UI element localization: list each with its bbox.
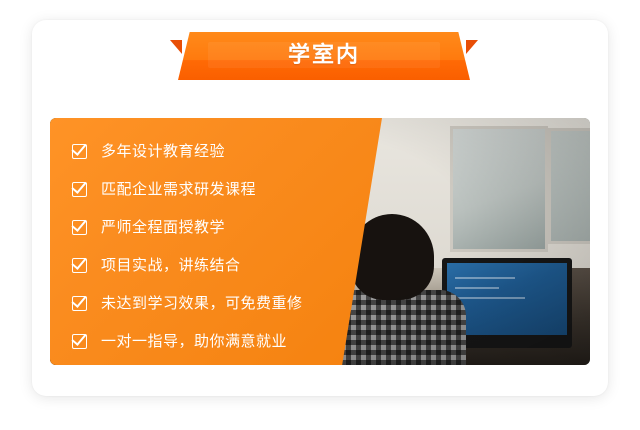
checkbox-check-icon — [72, 142, 91, 161]
banner-title: 学室内 — [170, 32, 478, 80]
checkbox-check-icon — [72, 294, 91, 313]
checkbox-check-icon — [72, 332, 91, 351]
checkbox-check-icon — [72, 256, 91, 275]
list-item-label: 匹配企业需求研发课程 — [101, 179, 256, 199]
list-item: 匹配企业需求研发课程 — [72, 170, 372, 208]
list-item-label: 严师全程面授教学 — [101, 217, 225, 237]
list-item: 多年设计教育经验 — [72, 132, 372, 170]
list-item: 项目实战，讲练结合 — [72, 246, 372, 284]
list-item-label: 一对一指导，助你满意就业 — [101, 331, 287, 351]
section-banner: 学室内 — [170, 32, 478, 82]
feature-list-panel: 多年设计教育经验 匹配企业需求研发课程 严师全程面授教学 — [50, 118, 382, 365]
checkbox-check-icon — [72, 180, 91, 199]
list-item-label: 项目实战，讲练结合 — [101, 255, 241, 275]
feature-list: 多年设计教育经验 匹配企业需求研发课程 严师全程面授教学 — [72, 132, 372, 360]
feature-band: OR 大 教育 计 海学 — [50, 118, 590, 365]
list-item: 严师全程面授教学 — [72, 208, 372, 246]
page-root: 学室内 OR 大 教育 计 海学 — [0, 0, 640, 430]
list-item-label: 未达到学习效果，可免费重修 — [101, 293, 303, 313]
list-item: 一对一指导，助你满意就业 — [72, 322, 372, 360]
list-item: 未达到学习效果，可免费重修 — [72, 284, 372, 322]
checkbox-check-icon — [72, 218, 91, 237]
list-item-label: 多年设计教育经验 — [101, 141, 225, 161]
